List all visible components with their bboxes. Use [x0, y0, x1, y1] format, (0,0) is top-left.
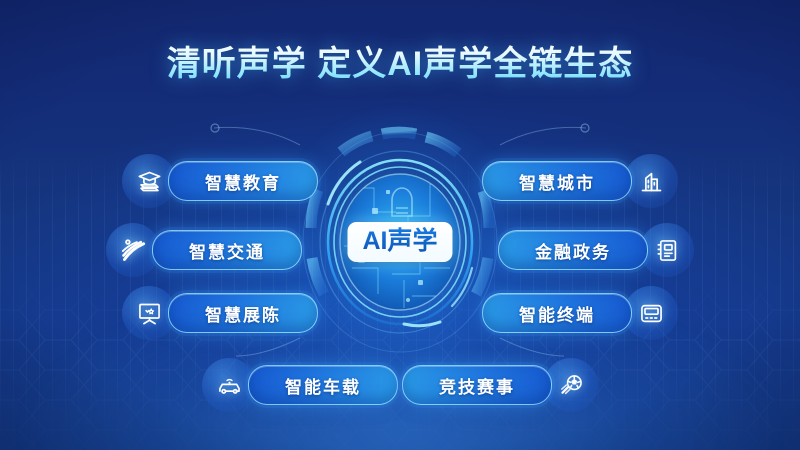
vignette-overlay	[0, 0, 800, 450]
poster-canvas: 清听声学 定义AI声学全链生态	[0, 0, 800, 450]
